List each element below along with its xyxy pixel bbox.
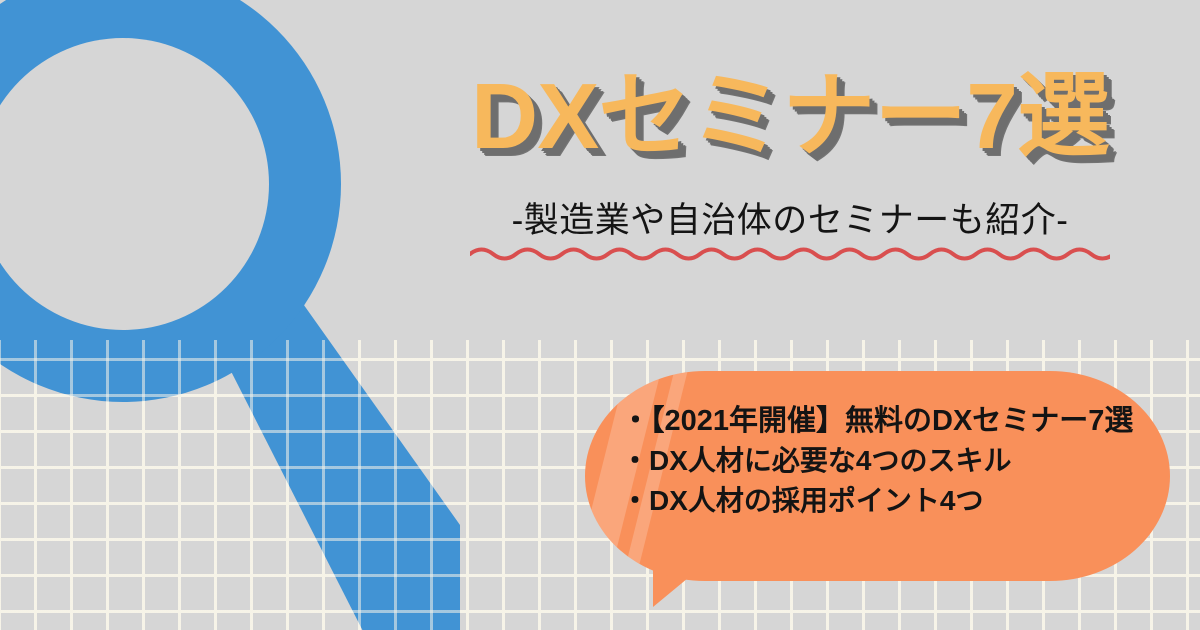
list-item: ・DX人材に必要な4つのスキル (621, 441, 1151, 481)
callout-speech-bubble: ・【2021年開催】無料のDXセミナー7選 ・DX人材に必要な4つのスキル ・D… (585, 371, 1170, 581)
page-title: DXセミナー7選 (385, 62, 1195, 170)
list-item: ・【2021年開催】無料のDXセミナー7選 (621, 401, 1151, 441)
hero-banner: DXセミナー7選 -製造業や自治体のセミナーも紹介- ・【2021年開催】無料の… (0, 0, 1200, 630)
list-item: ・DX人材の採用ポイント4つ (621, 481, 1151, 521)
wavy-underline-decoration (470, 246, 1110, 268)
subtitle-text: -製造業や自治体のセミナーも紹介- (385, 198, 1195, 244)
subtitle: -製造業や自治体のセミナーも紹介- (385, 198, 1195, 268)
main-title-text: DXセミナー7選 (385, 62, 1195, 170)
callout-bullet-list: ・【2021年開催】無料のDXセミナー7選 ・DX人材に必要な4つのスキル ・D… (621, 401, 1151, 521)
